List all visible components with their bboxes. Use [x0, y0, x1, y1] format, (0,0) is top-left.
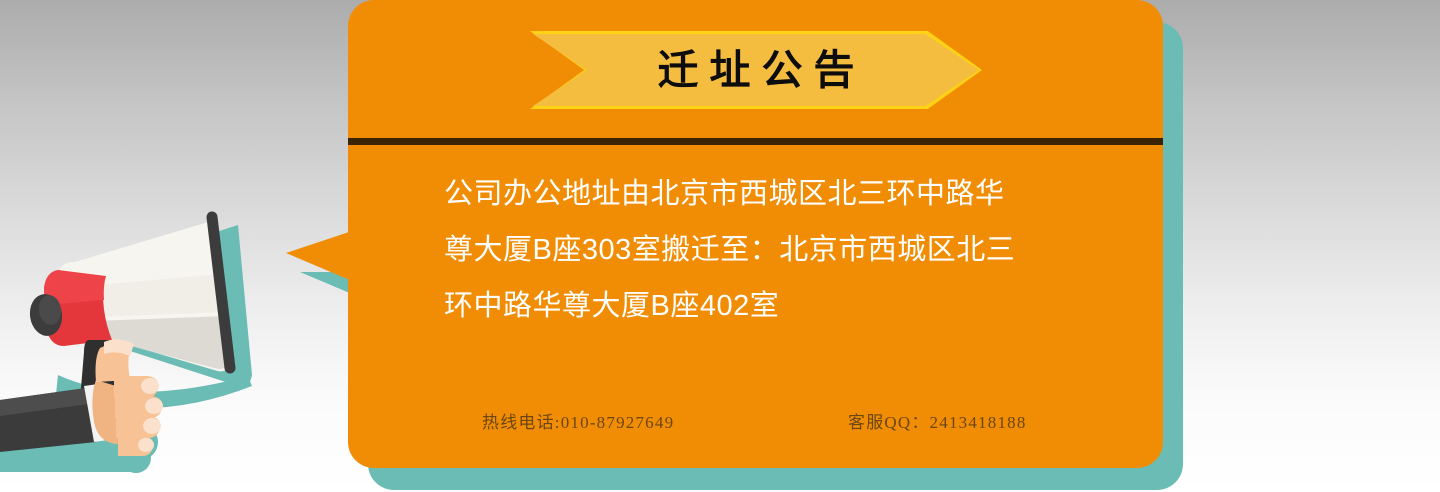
- header-divider: [348, 138, 1163, 145]
- announcement-body: 公司办公地址由北京市西城区北三环中路华 尊大厦B座303室搬迁至：北京市西城区北…: [444, 166, 1094, 334]
- page-title: 迁址公告: [533, 34, 979, 106]
- megaphone-illustration: [0, 190, 300, 492]
- hotline-text: 热线电话:010-87927649: [482, 408, 674, 433]
- contact-footer: 热线电话:010-87927649 客服QQ：2413418188: [444, 408, 1094, 434]
- body-line: 尊大厦B座303室搬迁至：北京市西城区北三: [444, 222, 1094, 278]
- qq-text: 客服QQ：2413418188: [848, 408, 1027, 433]
- announcement-banner: 迁址公告 公司办公地址由北京市西城区北三环中路华 尊大厦B座303室搬迁至：北京…: [0, 0, 1440, 492]
- body-line: 公司办公地址由北京市西城区北三环中路华: [444, 166, 1094, 222]
- sleeve-icon: [0, 384, 108, 452]
- speech-tail: [286, 231, 352, 281]
- body-line: 环中路华尊大厦B座402室: [444, 278, 1094, 334]
